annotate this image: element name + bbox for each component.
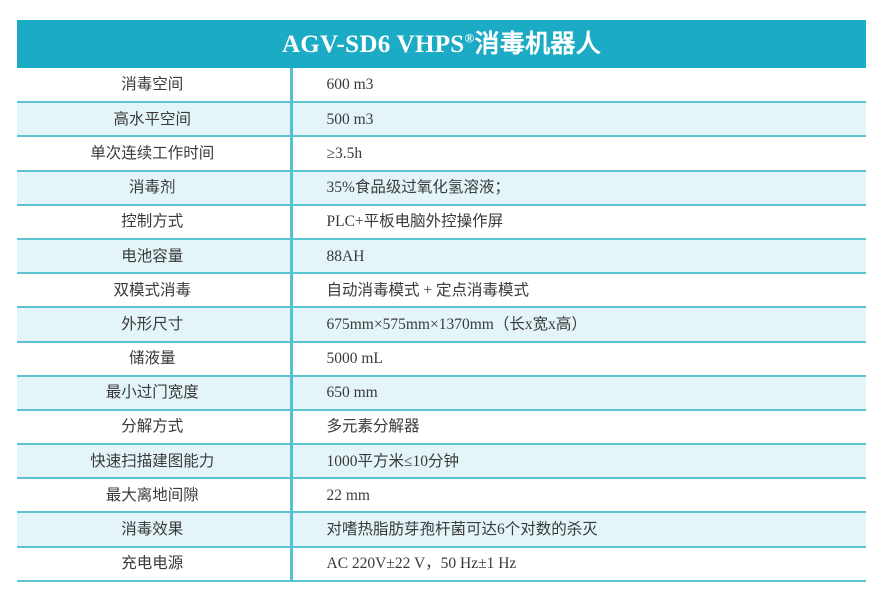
table-row: 充电电源AC 220V±22 V，50 Hz±1 Hz — [17, 547, 866, 581]
table-row: 分解方式多元素分解器 — [17, 410, 866, 444]
spec-label-text: 储液量 — [129, 350, 176, 367]
table-row: 消毒空间600 m3 — [17, 68, 866, 102]
spec-label-text: 分解方式 — [121, 418, 183, 435]
spec-label-text: 最小过门宽度 — [106, 384, 199, 401]
table-row: 外形尺寸675mm×575mm×1370mm（长x宽x高） — [17, 307, 866, 341]
spec-table-container: AGV-SD6 VHPS®消毒机器人 消毒空间600 m3高水平空间500 m3… — [17, 20, 866, 582]
spec-label-cell: 最小过门宽度 — [17, 376, 291, 410]
spec-value-text: AC 220V±22 V，50 Hz±1 Hz — [327, 555, 517, 572]
table-row: 最小过门宽度650 mm — [17, 376, 866, 410]
spec-label-text: 消毒效果 — [121, 521, 183, 538]
spec-label-text: 高水平空间 — [113, 111, 191, 128]
spec-value-cell: 1000平方米≤10分钟 — [291, 444, 866, 478]
spec-label-cell: 单次连续工作时间 — [17, 136, 291, 170]
spec-value-text: PLC+平板电脑外控操作屏 — [327, 213, 504, 230]
spec-label-text: 快速扫描建图能力 — [90, 453, 214, 470]
spec-value-text: 22 mm — [327, 487, 371, 504]
spec-label-text: 消毒空间 — [121, 76, 183, 93]
spec-value-cell: 自动消毒模式 + 定点消毒模式 — [291, 273, 866, 307]
spec-value-text: 88AH — [327, 248, 365, 265]
product-title-bar: AGV-SD6 VHPS®消毒机器人 — [17, 20, 866, 68]
spec-label-cell: 电池容量 — [17, 239, 291, 273]
spec-sheet: AGV-SD6 VHPS®消毒机器人 消毒空间600 m3高水平空间500 m3… — [0, 0, 884, 601]
spec-value-cell: 88AH — [291, 239, 866, 273]
page-title-suffix: 消毒机器人 — [475, 31, 602, 58]
spec-label-cell: 双模式消毒 — [17, 273, 291, 307]
spec-table-body: 消毒空间600 m3高水平空间500 m3单次连续工作时间≥3.5h消毒剂35%… — [17, 68, 866, 581]
spec-value-cell: 对嗜热脂肪芽孢杆菌可达6个对数的杀灭 — [291, 512, 866, 546]
spec-label-cell: 消毒效果 — [17, 512, 291, 546]
spec-value-cell: 5000 mL — [291, 342, 866, 376]
spec-label-cell: 充电电源 — [17, 547, 291, 581]
table-row: 电池容量88AH — [17, 239, 866, 273]
spec-label-cell: 快速扫描建图能力 — [17, 444, 291, 478]
spec-value-cell: AC 220V±22 V，50 Hz±1 Hz — [291, 547, 866, 581]
spec-value-cell: 22 mm — [291, 478, 866, 512]
page-title: AGV-SD6 VHPS®消毒机器人 — [282, 32, 601, 57]
table-row: 单次连续工作时间≥3.5h — [17, 136, 866, 170]
spec-value-text: 35%食品级过氧化氢溶液； — [327, 179, 510, 196]
spec-value-cell: PLC+平板电脑外控操作屏 — [291, 205, 866, 239]
spec-label-text: 双模式消毒 — [113, 282, 191, 299]
spec-label-text: 单次连续工作时间 — [90, 145, 214, 162]
page-title-main: AGV-SD6 VHPS — [282, 31, 465, 58]
table-row: 高水平空间500 m3 — [17, 102, 866, 136]
spec-value-cell: 600 m3 — [291, 68, 866, 102]
table-row: 消毒剂35%食品级过氧化氢溶液； — [17, 171, 866, 205]
spec-value-text: 675mm×575mm×1370mm（长x宽x高） — [327, 316, 587, 333]
spec-value-text: 多元素分解器 — [327, 418, 420, 435]
spec-value-cell: 500 m3 — [291, 102, 866, 136]
spec-label-text: 最大离地间隙 — [106, 487, 199, 504]
table-row: 快速扫描建图能力1000平方米≤10分钟 — [17, 444, 866, 478]
spec-value-cell: 650 mm — [291, 376, 866, 410]
spec-label-cell: 最大离地间隙 — [17, 478, 291, 512]
spec-label-text: 外形尺寸 — [121, 316, 183, 333]
spec-label-cell: 控制方式 — [17, 205, 291, 239]
spec-value-text: 1000平方米≤10分钟 — [327, 453, 460, 470]
spec-label-text: 电池容量 — [121, 248, 183, 265]
spec-label-cell: 外形尺寸 — [17, 307, 291, 341]
table-row: 储液量5000 mL — [17, 342, 866, 376]
spec-value-cell: 35%食品级过氧化氢溶液； — [291, 171, 866, 205]
registered-trademark-icon: ® — [465, 30, 475, 45]
spec-label-cell: 高水平空间 — [17, 102, 291, 136]
spec-label-text: 控制方式 — [121, 213, 183, 230]
spec-value-text: 对嗜热脂肪芽孢杆菌可达6个对数的杀灭 — [327, 521, 598, 538]
spec-value-text: 500 m3 — [327, 111, 374, 128]
spec-label-text: 充电电源 — [121, 555, 183, 572]
spec-value-text: 5000 mL — [327, 350, 383, 367]
table-row: 双模式消毒自动消毒模式 + 定点消毒模式 — [17, 273, 866, 307]
spec-value-text: 650 mm — [327, 384, 378, 401]
specification-table: 消毒空间600 m3高水平空间500 m3单次连续工作时间≥3.5h消毒剂35%… — [17, 68, 866, 582]
table-row: 控制方式PLC+平板电脑外控操作屏 — [17, 205, 866, 239]
spec-label-cell: 分解方式 — [17, 410, 291, 444]
spec-label-cell: 储液量 — [17, 342, 291, 376]
spec-label-text: 消毒剂 — [129, 179, 176, 196]
table-row: 最大离地间隙22 mm — [17, 478, 866, 512]
table-row: 消毒效果对嗜热脂肪芽孢杆菌可达6个对数的杀灭 — [17, 512, 866, 546]
spec-value-text: 自动消毒模式 + 定点消毒模式 — [327, 282, 530, 299]
spec-label-cell: 消毒空间 — [17, 68, 291, 102]
spec-value-text: ≥3.5h — [327, 145, 363, 162]
spec-value-cell: ≥3.5h — [291, 136, 866, 170]
spec-label-cell: 消毒剂 — [17, 171, 291, 205]
spec-value-cell: 多元素分解器 — [291, 410, 866, 444]
spec-value-text: 600 m3 — [327, 76, 374, 93]
spec-value-cell: 675mm×575mm×1370mm（长x宽x高） — [291, 307, 866, 341]
